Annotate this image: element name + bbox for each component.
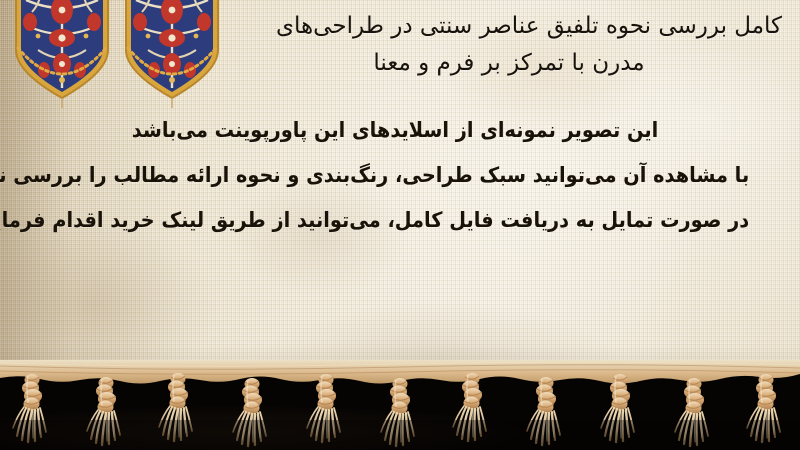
carpet-fringe-band bbox=[0, 360, 800, 450]
title-line-1: کامل بررسی نحوه تلفیق عناصر سنتی در طراح… bbox=[202, 8, 782, 45]
body-line-3: در صورت تمایل به دریافت فایل کامل، می‌تو… bbox=[41, 198, 749, 243]
slide-body-text: این تصویر نمونه‌ای از اسلایدهای این پاور… bbox=[41, 108, 749, 243]
slide-title: کامل بررسی نحوه تلفیق عناصر سنتی در طراح… bbox=[202, 8, 782, 82]
title-line-2: مدرن با تمرکز بر فرم و معنا bbox=[202, 45, 782, 82]
body-line-2: با مشاهده آن می‌توانید سبک طراحی، رنگ‌بن… bbox=[41, 153, 749, 198]
knotted-tassel-fringe bbox=[0, 360, 800, 450]
slide-text-layer: کامل بررسی نحوه تلفیق عناصر سنتی در طراح… bbox=[0, 0, 800, 392]
presentation-slide: کامل بررسی نحوه تلفیق عناصر سنتی در طراح… bbox=[0, 0, 800, 450]
body-line-1: این تصویر نمونه‌ای از اسلایدهای این پاور… bbox=[41, 108, 749, 153]
